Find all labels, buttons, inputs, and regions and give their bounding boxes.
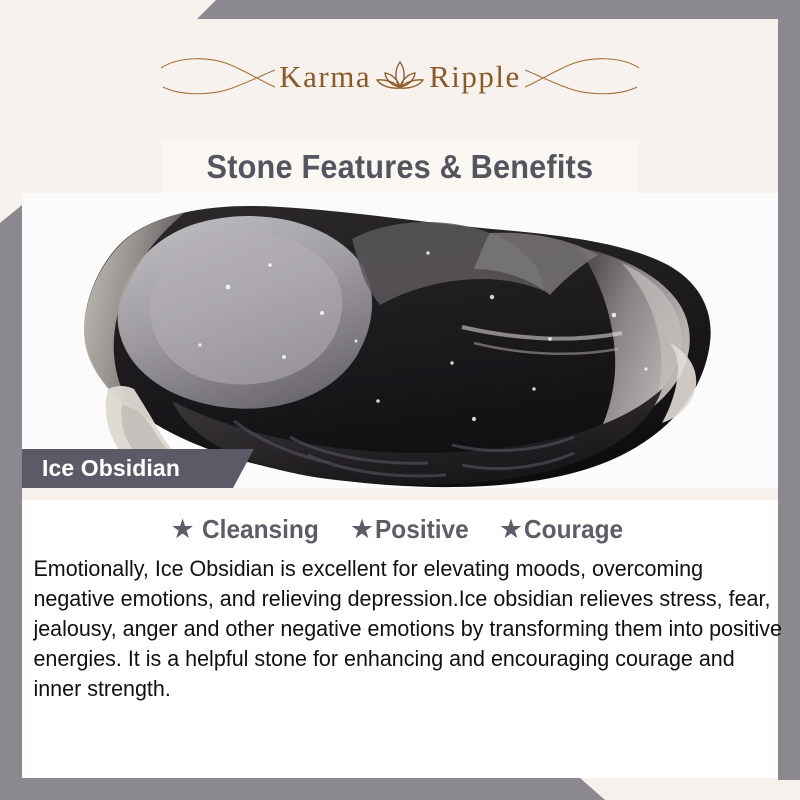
content-panel: ★ Cleansing ★ Positive ★ Courage Emotion… (22, 500, 778, 778)
stone-name-banner: Ice Obsidian (22, 449, 254, 488)
frame-accent-left (0, 205, 22, 800)
star-icon: ★ (499, 516, 523, 543)
stone-photo-illustration (22, 193, 778, 488)
keyword-label: Cleansing (202, 514, 319, 545)
star-icon: ★ (170, 516, 194, 543)
star-icon: ★ (350, 516, 374, 543)
stone-name: Ice Obsidian (22, 455, 180, 482)
frame-accent-top (0, 0, 800, 19)
swash-right-icon (523, 54, 641, 98)
stone-photo (22, 193, 778, 488)
keyword-item-cleansing: ★ Cleansing (170, 514, 325, 545)
keyword-label: Positive (375, 514, 469, 545)
keyword-label: Courage (524, 514, 623, 545)
frame-accent-bottom (0, 778, 800, 800)
infographic-page: Karma Ripple Stone Features & Benefits (0, 0, 800, 800)
description-text: Emotionally, Ice Obsidian is excellent f… (22, 545, 796, 704)
page-title: Stone Features & Benefits (207, 148, 594, 186)
brand-logo: Karma Ripple (22, 19, 778, 133)
brand-name-left: Karma (279, 61, 371, 92)
keyword-item-positive: ★ Positive (350, 514, 475, 545)
brand-name-right: Ripple (429, 61, 521, 92)
lotus-icon (373, 56, 427, 96)
keyword-item-courage: ★ Courage (499, 514, 630, 545)
keyword-row: ★ Cleansing ★ Positive ★ Courage (22, 500, 778, 545)
title-banner: Stone Features & Benefits (162, 141, 638, 193)
swash-left-icon (159, 54, 277, 98)
